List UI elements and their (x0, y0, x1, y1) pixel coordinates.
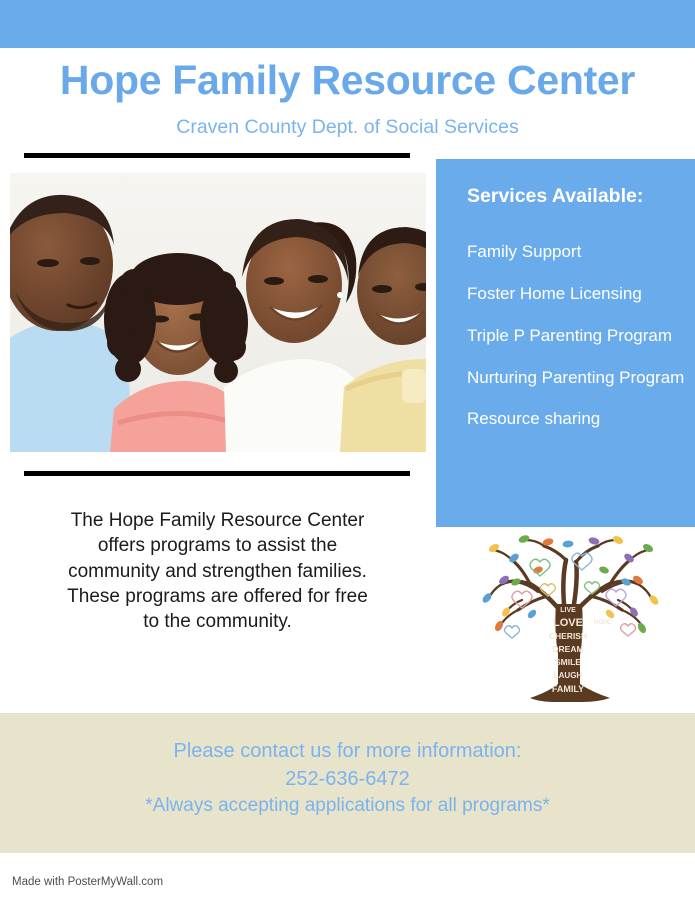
poster-canvas: Hope Family Resource Center Craven Count… (0, 0, 695, 900)
svg-text:FAMILY: FAMILY (552, 684, 584, 694)
contact-footer-text: Please contact us for more information: … (0, 738, 695, 819)
service-item-nurturing-parenting-program: Nurturing Parenting Program (467, 368, 691, 389)
services-panel: Services Available: Family Support Foste… (436, 159, 695, 527)
page-subtitle: Craven County Dept. of Social Services (0, 101, 695, 138)
service-item-resource-sharing: Resource sharing (467, 409, 691, 430)
svg-text:HOPE: HOPE (594, 620, 611, 626)
body-paragraph: The Hope Family Resource Center offers p… (61, 508, 374, 634)
family-photo (10, 173, 426, 452)
contact-phone[interactable]: 252-636-6472 (0, 766, 695, 794)
attribution-text: Made with PosterMyWall.com (12, 876, 163, 888)
svg-text:DREAM: DREAM (552, 644, 583, 654)
service-item-triple-p-parenting-program: Triple P Parenting Program (467, 326, 691, 347)
service-item-foster-home-licensing: Foster Home Licensing (467, 284, 691, 305)
applications-note: *Always accepting applications for all p… (0, 793, 695, 819)
top-accent-bar (0, 0, 695, 48)
services-heading: Services Available: (467, 186, 691, 207)
svg-text:CHERISH: CHERISH (549, 631, 587, 641)
poster-header: Hope Family Resource Center Craven Count… (0, 48, 695, 138)
family-tree-icon: LIVE LOVE CHERISH DREAM SMILE LAUGH FAMI… (478, 534, 663, 706)
service-item-family-support: Family Support (467, 242, 691, 263)
divider-rule-top (24, 153, 410, 158)
contact-prompt: Please contact us for more information: (0, 738, 695, 766)
page-title: Hope Family Resource Center (0, 48, 695, 101)
svg-text:LAUGH: LAUGH (554, 671, 583, 680)
svg-text:LOVE: LOVE (553, 617, 583, 629)
divider-rule-bottom (24, 471, 410, 476)
svg-text:LIVE: LIVE (560, 607, 576, 614)
svg-text:SMILE: SMILE (555, 657, 581, 667)
